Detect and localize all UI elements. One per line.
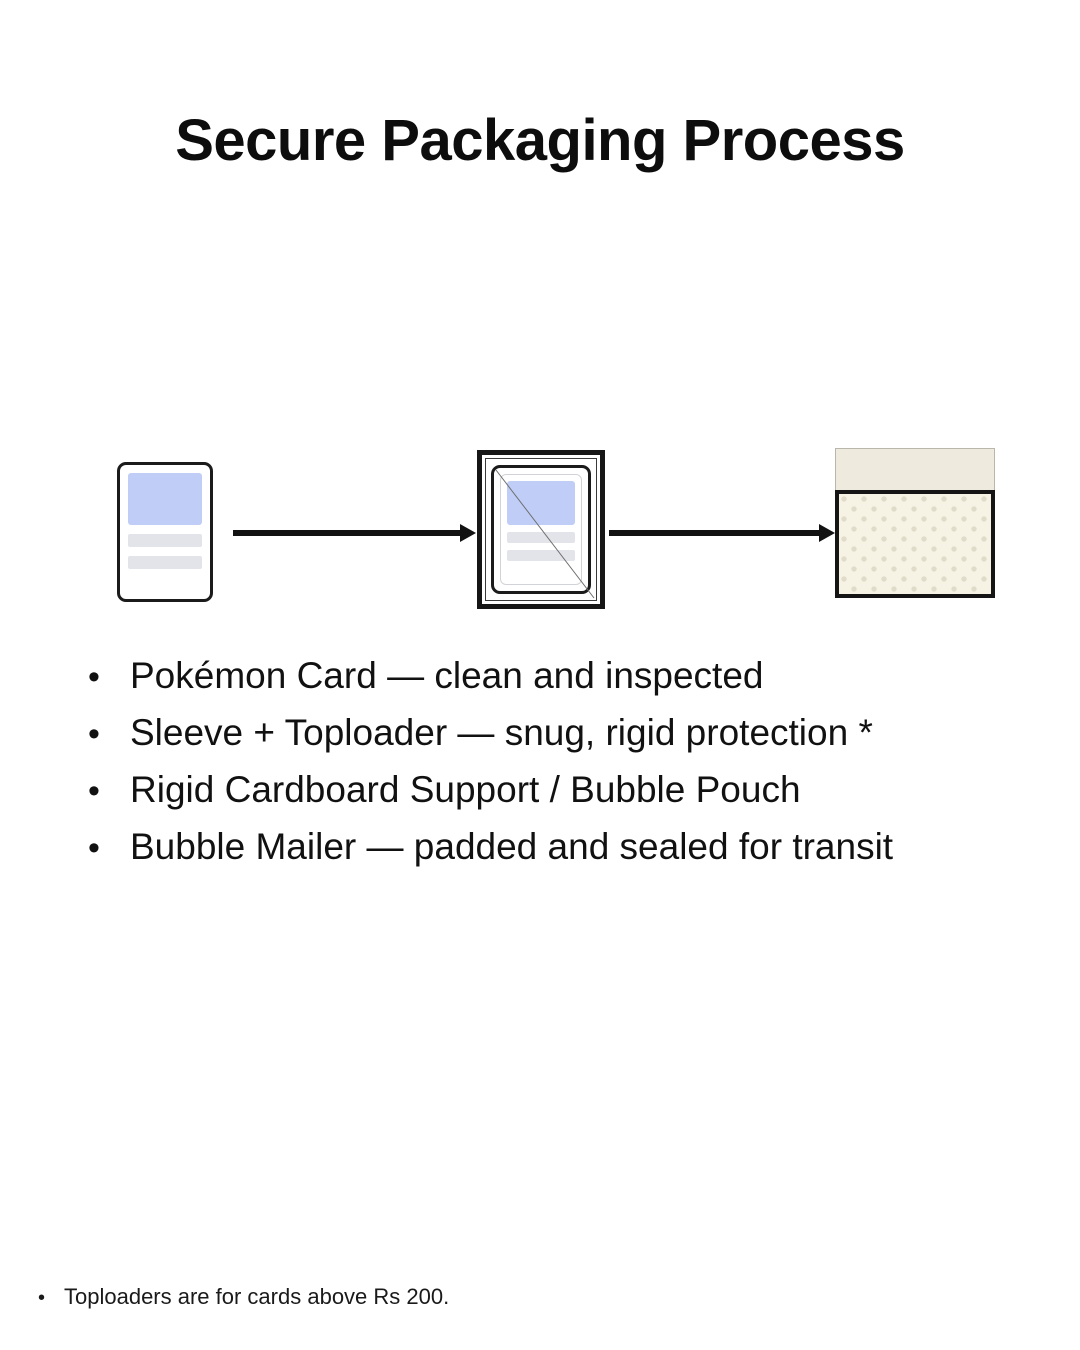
list-item: • Sleeve + Toploader — snug, rigid prote… — [88, 705, 1038, 762]
footnote-marker: • — [38, 1282, 64, 1314]
card-text-line-2 — [507, 550, 575, 561]
card-text-line-2 — [128, 556, 202, 569]
arrow-right-icon — [233, 522, 476, 542]
sleeve-icon — [491, 465, 591, 594]
footnote-label: Toploaders are for cards above Rs 200. — [64, 1281, 449, 1313]
card-artwork-block — [507, 481, 575, 525]
bullet-marker: • — [88, 820, 130, 876]
list-item: • Pokémon Card — clean and inspected — [88, 648, 1038, 705]
bullet-marker: • — [88, 649, 130, 705]
bubble-mailer-icon — [835, 448, 995, 598]
list-item-label: Rigid Cardboard Support / Bubble Pouch — [130, 762, 801, 818]
arrow-head — [819, 524, 835, 542]
bullet-list: • Pokémon Card — clean and inspected • S… — [88, 648, 1038, 876]
list-item: • Bubble Mailer — padded and sealed for … — [88, 819, 1038, 876]
list-item-label: Pokémon Card — clean and inspected — [130, 648, 763, 704]
arrow-right-icon — [609, 522, 835, 542]
footnote: • Toploaders are for cards above Rs 200. — [38, 1281, 449, 1314]
card-face — [500, 474, 582, 585]
card-text-line-1 — [507, 532, 575, 543]
slide-root: { "slide": { "title": "Secure Packaging … — [0, 0, 1080, 1350]
arrow-shaft — [233, 530, 462, 536]
bullet-marker: • — [88, 763, 130, 819]
toploader-icon — [477, 450, 605, 609]
list-item: • Rigid Cardboard Support / Bubble Pouch — [88, 762, 1038, 819]
arrow-head — [460, 524, 476, 542]
trading-card-icon — [117, 462, 213, 602]
packaging-process-diagram — [0, 0, 1080, 200]
list-item-label: Sleeve + Toploader — snug, rigid protect… — [130, 705, 873, 761]
bullet-marker: • — [88, 706, 130, 762]
card-face — [120, 465, 210, 599]
bubble-wrap-pattern — [839, 494, 991, 594]
card-text-line-1 — [128, 534, 202, 547]
arrow-shaft — [609, 530, 821, 536]
list-item-label: Bubble Mailer — padded and sealed for tr… — [130, 819, 893, 875]
card-artwork-block — [128, 473, 202, 525]
mailer-flap — [835, 448, 995, 492]
mailer-body — [835, 490, 995, 598]
